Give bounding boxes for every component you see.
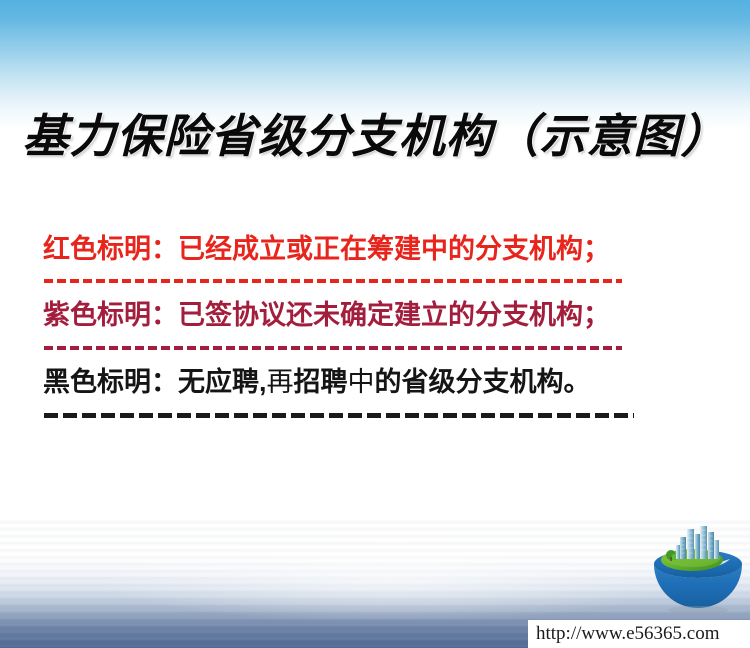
legend-purple-lead: 紫色标明： [43, 300, 178, 330]
legend-red-lead: 红色标明： [43, 234, 178, 264]
legend-black-body-part3: 的省级分支机构。 [375, 367, 591, 397]
legend-black-body-part1: 无应聘, [178, 367, 267, 397]
slide-canvas: 基力保险省级分支机构（示意图） 红色标明：已经成立或正在筹建中的分支机构； 紫色… [0, 0, 750, 648]
purple-separator [44, 346, 622, 350]
legend-purple-body: 已签协议还未确定建立的分支机构； [178, 300, 610, 330]
legend-row-black: 黑色标明：无应聘,再招聘中的省级分支机构。 [43, 369, 703, 396]
legend-black-lead: 黑色标明： [43, 367, 178, 397]
legend-block: 红色标明：已经成立或正在筹建中的分支机构； 紫色标明：已签协议还未确定建立的分支… [43, 236, 703, 418]
legend-black-body-part2: 招聘 [294, 367, 348, 397]
legend-red-body: 已经成立或正在筹建中的分支机构； [178, 234, 610, 264]
red-separator [44, 279, 622, 283]
legend-row-red: 红色标明：已经成立或正在筹建中的分支机构； [43, 236, 703, 263]
legend-black-body-thin2: 中 [348, 367, 375, 397]
globe-buildings [676, 526, 719, 559]
globe-city-logo [648, 520, 748, 620]
black-separator [44, 413, 634, 418]
url-badge: http://www.e56365.com [528, 620, 750, 648]
site-url[interactable]: http://www.e56365.com [536, 623, 719, 645]
slide-title: 基力保险省级分支机构（示意图） [0, 100, 750, 166]
logo-shadow [668, 606, 728, 614]
legend-row-purple: 紫色标明：已签协议还未确定建立的分支机构； [43, 302, 703, 329]
legend-black-body-thin1: 再 [267, 367, 294, 397]
